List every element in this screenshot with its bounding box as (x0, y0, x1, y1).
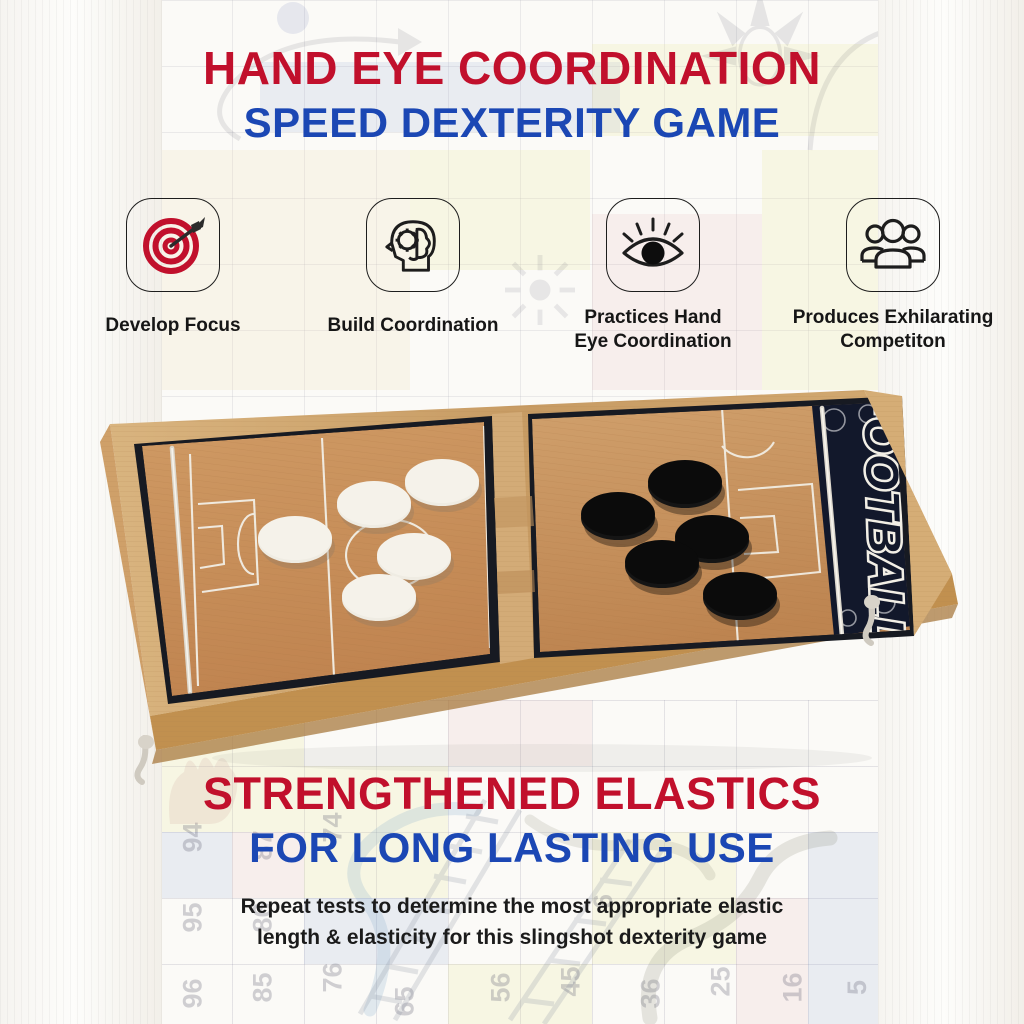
feature-label-line2: Eye Coordination (574, 331, 731, 352)
feature-label: Develop Focus (105, 314, 240, 338)
footer-paragraph-line2: length & elasticity for this slingshot d… (257, 926, 767, 949)
feature-label: Build Coordination (328, 314, 499, 338)
footer-paragraph: Repeat tests to determine the most appro… (162, 892, 862, 953)
black-puck (581, 492, 658, 547)
white-puck (405, 459, 482, 512)
target-arrow-icon (141, 213, 205, 277)
headline-primary: HAND EYE COORDINATION (0, 44, 1024, 93)
white-puck (342, 574, 419, 627)
product-photo: FOOTBALL (22, 386, 982, 786)
feature-label: Practices Hand Eye Coordination (574, 306, 731, 354)
feature-row: Develop Focus Build Co (58, 198, 1008, 388)
footer-block: STRENGTHENED ELASTICS FOR LONG LASTING U… (0, 770, 1024, 953)
footer-paragraph-line1: Repeat tests to determine the most appro… (241, 895, 784, 918)
feature-develop-focus: Develop Focus (58, 198, 288, 338)
feature-label-line2: Competiton (840, 331, 946, 352)
footer-headline-primary: STRENGTHENED ELASTICS (0, 770, 1024, 818)
eye-icon (620, 215, 686, 275)
people-group-icon (860, 217, 926, 273)
feature-build-coordination: Build Coordination (298, 198, 528, 338)
white-puck (337, 481, 414, 534)
white-puck (258, 516, 335, 569)
board-cell-number: 85 (248, 972, 279, 1002)
feature-icon-frame (606, 198, 700, 292)
feature-label-line1: Practices Hand (584, 307, 721, 328)
feature-icon-frame (846, 198, 940, 292)
footer-headline-secondary: FOR LONG LASTING USE (0, 826, 1024, 871)
headline-block: HAND EYE COORDINATION SPEED DEXTERITY GA… (0, 44, 1024, 145)
board-cell-number: 96 (178, 978, 209, 1008)
feature-label-line1: Produces Exhilarating (793, 307, 994, 328)
headline-secondary: SPEED DEXTERITY GAME (0, 101, 1024, 146)
black-puck (625, 540, 702, 595)
feature-icon-frame (366, 198, 460, 292)
black-puck (648, 460, 725, 515)
black-puck (703, 572, 780, 627)
poster-canvas: 94 95 96 87 86 85 74 76 65 56 45 36 25 1… (0, 0, 1024, 1024)
feature-practices-hand-eye-coordination: Practices Hand Eye Coordination (538, 198, 768, 354)
slingshot-football-board: FOOTBALL (22, 386, 982, 786)
feature-produces-exhilarating-competition: Produces Exhilarating Competiton (778, 198, 1008, 354)
feature-label: Produces Exhilarating Competiton (793, 306, 994, 354)
feature-icon-frame (126, 198, 220, 292)
head-brain-gear-icon (382, 214, 444, 276)
